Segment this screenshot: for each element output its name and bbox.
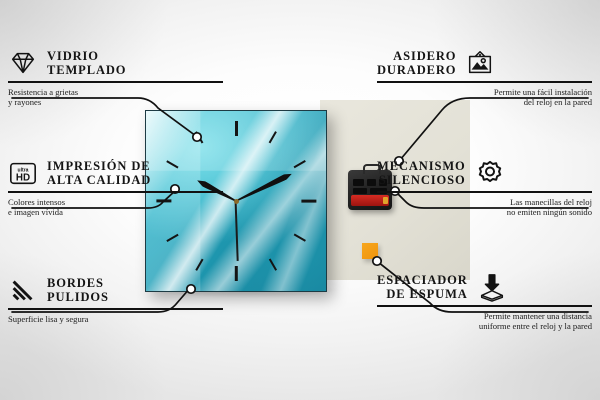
feature-description: Colores intensos e imagen vívida bbox=[8, 197, 223, 218]
clock-tick bbox=[235, 266, 238, 281]
clock-tick bbox=[269, 131, 277, 143]
feature-underline bbox=[377, 191, 592, 193]
callout-dot-espaciador bbox=[373, 257, 381, 265]
feature-mecanismo-silencioso[interactable]: MECANISMO SILENCIOSO Las manecillas del … bbox=[377, 158, 592, 218]
feature-asidero-duradero[interactable]: ASIDERO DURADERO Permite una fácil insta… bbox=[377, 48, 592, 108]
feature-header: VIDRIO TEMPLADO bbox=[8, 48, 223, 78]
press-down-pad-icon bbox=[477, 272, 507, 302]
feature-description: Las manecillas del reloj no emiten ningú… bbox=[377, 197, 592, 218]
movement-slot bbox=[367, 179, 376, 186]
clock-tick bbox=[293, 234, 305, 242]
feature-impresion-alta-calidad[interactable]: ultra HD IMPRESIÓN DE ALTA CALIDAD Color… bbox=[8, 158, 223, 218]
feature-underline bbox=[8, 81, 223, 83]
ultra-hd-badge-icon: ultra HD bbox=[8, 158, 38, 188]
hanging-picture-frame-icon bbox=[465, 48, 495, 78]
feature-title: VIDRIO TEMPLADO bbox=[47, 49, 126, 78]
feature-header: ESPACIADOR DE ESPUMA bbox=[377, 272, 592, 302]
diamond-icon bbox=[8, 48, 38, 78]
infographic-canvas: VIDRIO TEMPLADO Resistencia a grietas y … bbox=[0, 0, 600, 400]
feature-header: MECANISMO SILENCIOSO bbox=[377, 158, 592, 188]
gear-icon bbox=[475, 158, 505, 188]
feature-title: ESPACIADOR DE ESPUMA bbox=[377, 273, 468, 302]
svg-text:HD: HD bbox=[16, 173, 30, 184]
feature-header: BORDES PULIDOS bbox=[8, 275, 223, 305]
clock-tick bbox=[301, 200, 316, 203]
movement-slot bbox=[353, 179, 364, 186]
clock-tick bbox=[195, 258, 203, 270]
feature-underline bbox=[8, 191, 223, 193]
callout-dot-vidrio bbox=[193, 133, 201, 141]
feature-title: IMPRESIÓN DE ALTA CALIDAD bbox=[47, 159, 151, 188]
clock-tick bbox=[166, 234, 178, 242]
feature-header: ultra HD IMPRESIÓN DE ALTA CALIDAD bbox=[8, 158, 223, 188]
clock-tick bbox=[235, 121, 238, 136]
feature-header: ASIDERO DURADERO bbox=[377, 48, 592, 78]
clock-minute-hand bbox=[235, 171, 293, 204]
feature-title: BORDES PULIDOS bbox=[47, 276, 109, 305]
movement-slot bbox=[353, 188, 367, 194]
feature-bordes-pulidos[interactable]: BORDES PULIDOS Superficie lisa y segura bbox=[8, 275, 223, 324]
clock-center-hub bbox=[234, 199, 239, 204]
feature-description: Resistencia a grietas y rayones bbox=[8, 87, 223, 108]
feature-description: Superficie lisa y segura bbox=[8, 314, 223, 325]
feature-underline bbox=[377, 81, 592, 83]
foam-spacer-sample bbox=[362, 243, 378, 259]
feature-description: Permite mantener una distancia uniforme … bbox=[377, 311, 592, 332]
clock-tick bbox=[269, 258, 277, 270]
clock-second-hand bbox=[235, 201, 239, 261]
feature-underline bbox=[377, 305, 592, 307]
clock-tick bbox=[293, 160, 305, 168]
feature-description: Permite una fácil instalación del reloj … bbox=[377, 87, 592, 108]
feature-title: ASIDERO DURADERO bbox=[377, 49, 456, 78]
feature-vidrio-templado[interactable]: VIDRIO TEMPLADO Resistencia a grietas y … bbox=[8, 48, 223, 108]
corner-shade-bottom-left bbox=[0, 250, 170, 400]
feature-underline bbox=[8, 308, 223, 310]
clock-tick bbox=[195, 131, 203, 143]
feature-espaciador-de-espuma[interactable]: ESPACIADOR DE ESPUMA Permite mantener un… bbox=[377, 272, 592, 332]
diagonal-lines-icon bbox=[8, 275, 38, 305]
feature-title: MECANISMO SILENCIOSO bbox=[377, 159, 466, 188]
